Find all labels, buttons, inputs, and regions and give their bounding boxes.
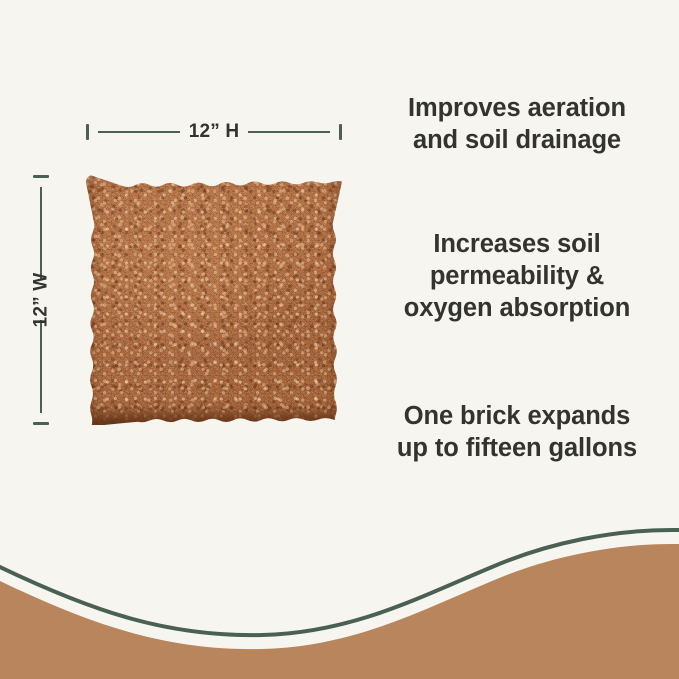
benefit-line: Improves aeration xyxy=(358,92,676,124)
dimension-end-cap-right-icon xyxy=(339,124,342,140)
benefit-aeration-drainage: Improves aeration and soil drainage xyxy=(358,92,676,156)
dimension-rule-right xyxy=(248,131,330,133)
soil-wave-decoration xyxy=(0,519,679,679)
infographic-canvas: 12” H 12” W xyxy=(0,0,679,679)
benefit-line: One brick expands xyxy=(358,400,676,432)
benefit-line: oxygen absorption xyxy=(358,292,676,324)
benefit-line: and soil drainage xyxy=(358,124,676,156)
benefit-line: up to fifteen gallons xyxy=(358,432,676,464)
dimension-rule-left xyxy=(98,131,180,133)
benefit-line: Increases soil xyxy=(358,228,676,260)
coir-brick-image xyxy=(86,175,342,425)
benefit-expansion-capacity: One brick expands up to fifteen gallons xyxy=(358,400,676,464)
benefit-permeability-oxygen: Increases soil permeability & oxygen abs… xyxy=(358,228,676,324)
dimension-horizontal-label: 12” H xyxy=(189,121,240,143)
dimension-rule-top xyxy=(40,187,42,280)
dimension-vertical-label: 12” W xyxy=(30,273,52,328)
dimension-vertical: 12” W xyxy=(29,175,53,425)
dimension-end-cap-top-icon xyxy=(33,175,49,178)
benefits-list: Improves aeration and soil drainage Incr… xyxy=(358,80,676,490)
benefit-line: permeability & xyxy=(358,260,676,292)
dimension-end-cap-left-icon xyxy=(86,124,89,140)
dimension-end-cap-bottom-icon xyxy=(33,422,49,425)
dimension-rule-bottom xyxy=(40,320,42,413)
dimension-horizontal: 12” H xyxy=(86,120,342,144)
coir-brick-body xyxy=(86,175,342,425)
